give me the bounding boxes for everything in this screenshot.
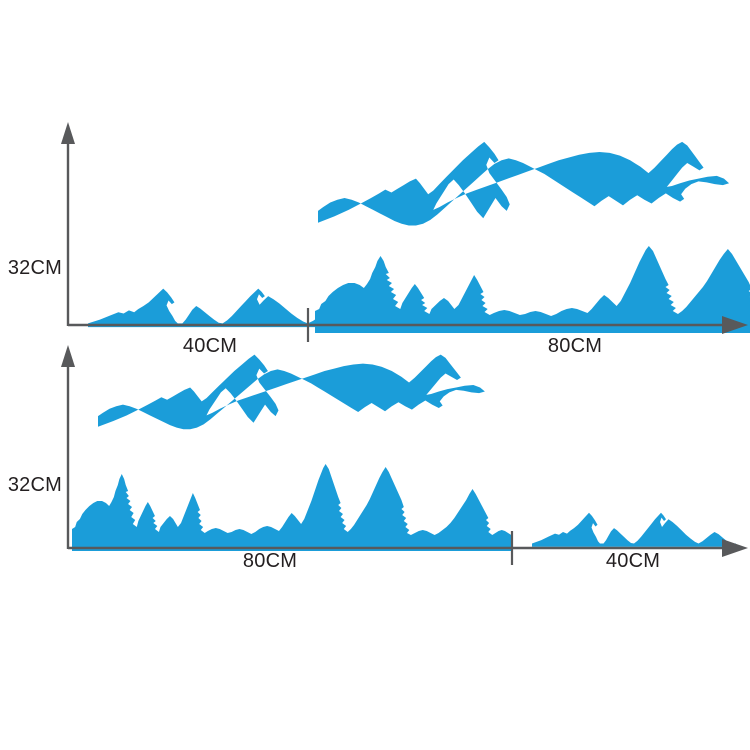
product-size-diagram: 32CM 40CM 80CM <box>0 0 750 750</box>
x-axis-arrow-bottom <box>722 539 748 557</box>
y-axis-label-top: 32CM <box>0 258 62 278</box>
panel-bottom-graphic <box>0 333 750 583</box>
x-axis-label-bottom-segment-2: 40CM <box>578 551 688 571</box>
y-axis-label-bottom: 32CM <box>0 475 62 495</box>
forest-treeline-large-top <box>315 246 750 333</box>
mountain-range-large-bottom <box>98 355 485 430</box>
mountain-range-large-top <box>318 142 729 226</box>
mountain-range-small-bottom <box>532 513 736 547</box>
panel-top-graphic <box>0 110 750 360</box>
y-axis-arrow-bottom <box>61 345 75 367</box>
diagram-panel-bottom: 32CM 80CM 40CM <box>0 333 750 583</box>
y-axis-arrow-top <box>61 122 75 144</box>
forest-treeline-large-bottom <box>72 464 511 551</box>
diagram-panel-top: 32CM 40CM 80CM <box>0 110 750 360</box>
x-axis-label-bottom-segment-1: 80CM <box>215 551 325 571</box>
